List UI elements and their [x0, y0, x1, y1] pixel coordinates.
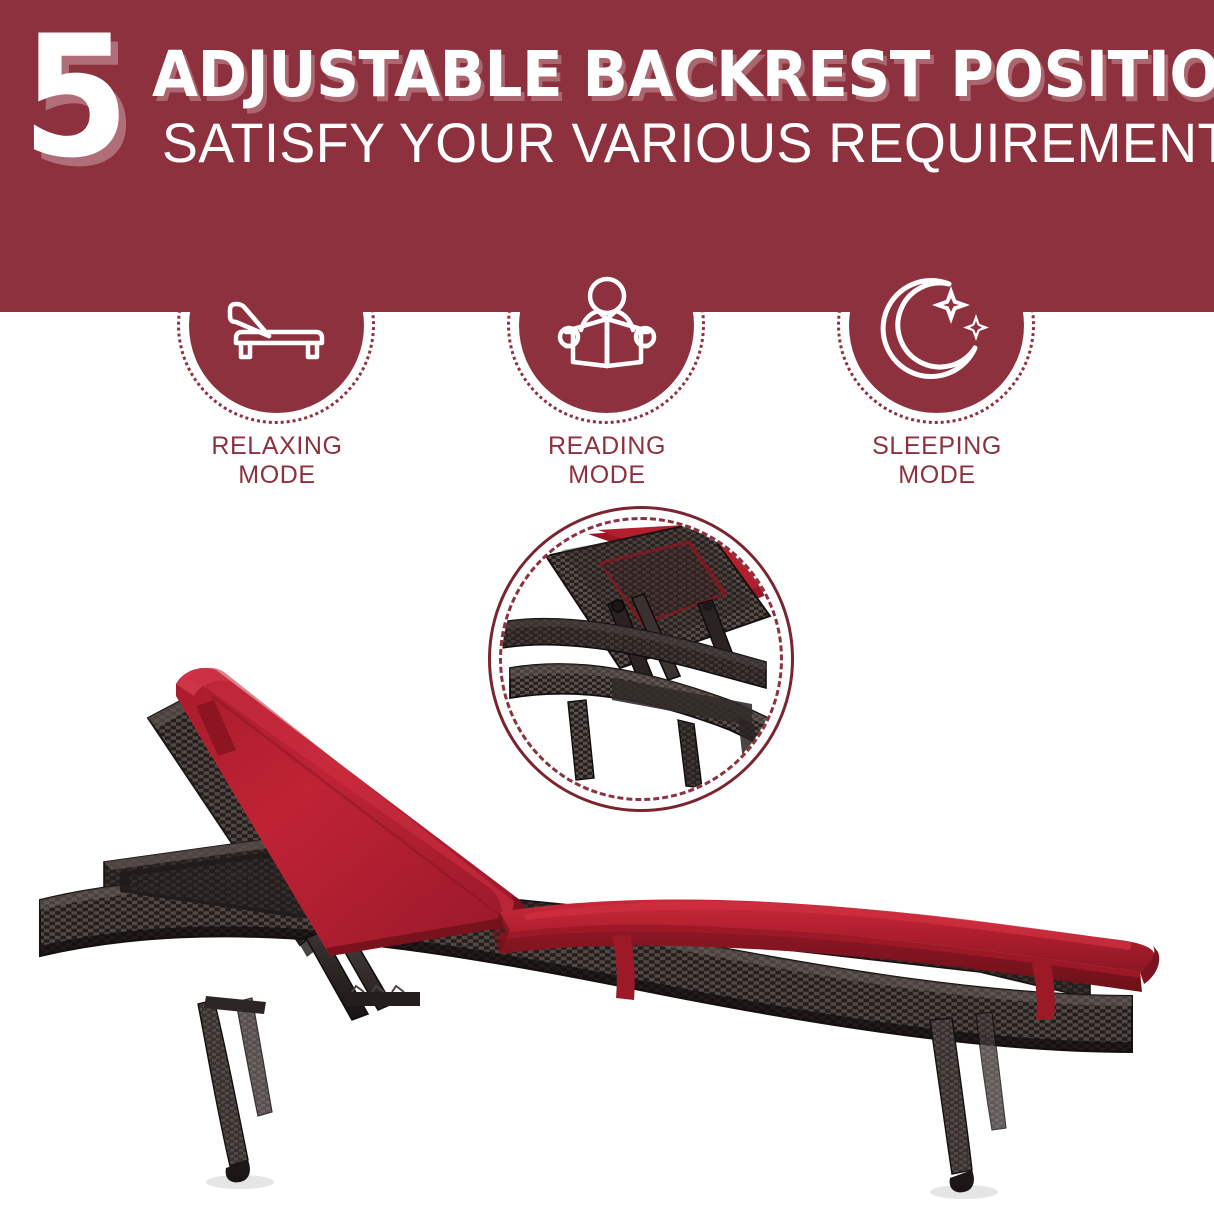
mode-label-relaxing: RELAXING MODE — [157, 432, 397, 490]
mode-icon-row: RELAXING MODE — [0, 0, 1214, 500]
mode-label-line1: READING — [487, 432, 727, 461]
mode-label-sleeping: SLEEPING MODE — [817, 432, 1057, 490]
detail-outer-ring — [488, 506, 794, 812]
mode-item-sleeping: SLEEPING MODE — [817, 226, 1057, 422]
mode-circle-reading — [487, 226, 727, 422]
mode-circle-relaxing — [157, 226, 397, 422]
mode-label-line2: MODE — [817, 461, 1057, 490]
chaise-lounge-icon — [189, 238, 364, 413]
mode-label-line2: MODE — [157, 461, 397, 490]
infographic-canvas: 5 ADJUSTABLE BACKREST POSITIONS SATISFY … — [0, 0, 1214, 1214]
mode-circle-sleeping — [817, 226, 1057, 422]
detail-inset-circle — [488, 506, 794, 812]
mode-item-reading: READING MODE — [487, 226, 727, 422]
person-reading-book-icon — [519, 238, 694, 413]
mode-label-line2: MODE — [487, 461, 727, 490]
mode-label-reading: READING MODE — [487, 432, 727, 490]
mode-item-relaxing: RELAXING MODE — [157, 226, 397, 422]
mode-label-line1: SLEEPING — [817, 432, 1057, 461]
crescent-moon-stars-icon — [849, 238, 1024, 413]
mode-label-line1: RELAXING — [157, 432, 397, 461]
